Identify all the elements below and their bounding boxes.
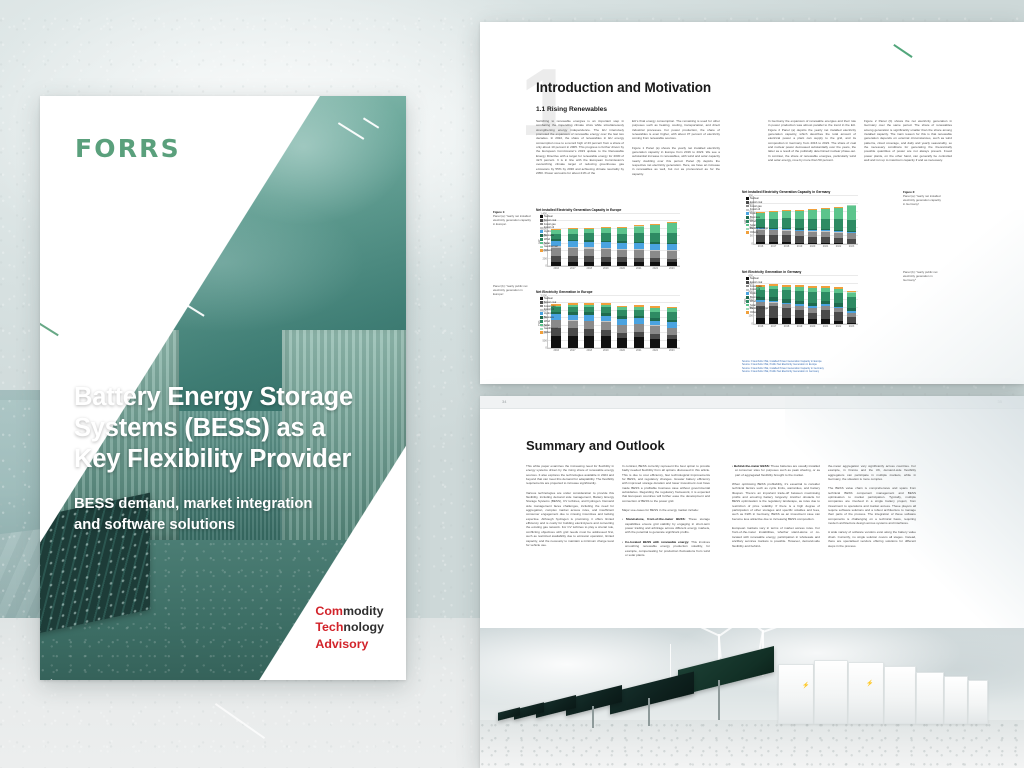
chart-legend-label: Nuclear [544,297,553,300]
chart-bar-segment [782,318,790,324]
chart-x-tick-label: 2022 [652,349,658,352]
chart-bar[interactable] [568,214,578,266]
chart-bar[interactable] [650,296,660,348]
chart-legend-swatch [746,289,749,292]
chart-bar-segment [551,262,561,266]
chart-bar-segment [601,322,611,330]
chart-bar-segment [617,338,627,348]
chart-bar-segment [756,235,764,243]
page1-col4-para-1: Figure 2 Panel (b) shows the net electri… [864,119,952,162]
chart-bar-segment [650,262,660,266]
battery-container [944,676,968,724]
chart-bar-segment [756,318,764,324]
chart-legend-item[interactable]: Hydro [540,230,558,233]
cover-subtitle: BESS demand, market integration and soft… [74,494,372,537]
chart-bar[interactable] [782,196,790,244]
figure-1-caption-b: Panel (b): Yearly public net electricity… [493,284,531,296]
chart-bar-segment [650,339,660,348]
report-page-summary[interactable]: 34 35 Summary and Outlook This white pap… [480,396,1024,768]
chart-bar-segment [650,312,660,319]
chart-title: Net Electricity Generation in Europe [536,290,714,294]
chart-legend-item[interactable]: Nuclear [746,197,768,200]
figure-2-caption-panel-b: Panel (b): Yearly public net electricity… [903,270,943,282]
chart-x-tick-label: 2017 [771,325,777,328]
chart-y-tick-label: 500 [542,339,546,342]
chart-bar-segment [808,243,816,244]
chart-x-tick-label: 2023 [849,245,855,248]
chart-bar-segment [551,336,561,348]
chart-bar-segment [847,297,855,308]
chart-bar-segment [808,319,816,324]
chart-legend: NuclearFossil coalFossil gasFossil oilHy… [746,277,768,314]
chart-bars: 20162017201820192020202120222023 [754,276,858,324]
chart-legend-item[interactable]: Fossil coal [746,281,768,284]
chart-bars: 20162017201820192020202120222023 [548,296,680,348]
chart-bar-segment [601,249,611,257]
chart-x-tick-label: 2022 [652,267,658,270]
cta-logo-line-3: Advisory [315,636,384,652]
chart-legend-item[interactable]: Nuclear [746,277,768,280]
chart-bar-segment [808,219,816,229]
chart-bar-segment [834,219,842,230]
chart-bar[interactable] [617,296,627,348]
chart-bar-segment [667,223,677,233]
cover-title-line-3: Key Flexibility Provider [74,444,384,475]
chart-legend-swatch [746,308,749,311]
chart-bar[interactable] [650,214,660,266]
chart-bar[interactable] [769,276,777,324]
chart-fig1a: Net Installed Electricity Generation Cap… [536,208,714,272]
chart-legend-item[interactable]: Biomass [540,316,558,319]
chart-bar[interactable] [601,214,611,266]
chart-bars: 20162017201820192020202120222023 [754,196,858,244]
battery-container [814,660,848,724]
chart-y-tick-label: 0 [751,243,752,246]
battery-container [848,662,884,724]
cover-subtitle-line-1: BESS demand, market integration [74,494,372,515]
chart-legend-swatch [746,209,749,212]
wind-turbine-mast [670,644,671,680]
chart-legend-label: Hydro [750,212,757,215]
chart-legend-item[interactable]: Wind [540,238,558,241]
page1-subheading: 1.1 Rising Renewables [536,106,607,113]
chart-bar[interactable] [795,196,803,244]
solar-panel-leg [648,698,650,726]
figure-2-caption-b: Panel (b): Yearly public net electricity… [903,270,943,282]
chart-bar-segment [847,317,855,324]
chart-legend-swatch [540,316,543,319]
page2-col3-para-1: When optimising BESS profitability, it's… [732,482,820,521]
battery-container [884,666,916,724]
chart-y-tick-label: 0 [545,347,546,350]
chart-legend: NuclearFossil coalFossil gasFossil oilHy… [746,197,768,234]
cta-logo-line-1: Commodity [315,603,384,619]
page2-column-3: • Behind-the-meter BESS: These batteries… [732,464,820,553]
chart-bar[interactable] [634,296,644,348]
chart-bar[interactable] [769,196,777,244]
chart-bar[interactable] [782,276,790,324]
chart-legend-label: Others [750,311,758,314]
page2-column-1: This white paper examines the increasing… [526,464,614,552]
cover-title: Battery Energy Storage Systems (BESS) as… [74,382,384,475]
chart-legend-swatch [540,219,543,222]
chart-legend-swatch [540,312,543,315]
chart-x-tick-label: 2020 [619,267,625,270]
chart-x-tick-label: 2021 [823,245,829,248]
chart-x-tick-label: 2019 [797,325,803,328]
chart-bar[interactable] [808,276,816,324]
chart-legend-item[interactable]: Biomass [746,296,768,299]
chart-title: Net Electricity Generation in Germany [742,270,892,274]
chart-bar[interactable] [584,214,594,266]
page2-photo-ground [480,720,1024,768]
page2-col1-para-2: Various technologies are under considera… [526,491,614,547]
cover-page[interactable]: FORRS Battery Energy Storage Systems (BE… [40,96,406,680]
cover-subtitle-line-2: and software solutions [74,515,372,536]
battery-container [916,672,944,724]
chart-bar[interactable] [667,296,677,348]
battery-bolt-icon: ⚡ [866,680,873,687]
chart-legend-swatch [540,324,543,327]
chart-bar-segment [617,234,627,242]
chart-legend-swatch [746,220,749,223]
chart-bar[interactable] [568,296,578,348]
chart-bar[interactable] [821,196,829,244]
chart-legend-item[interactable]: Nuclear [540,215,558,218]
chart-bar-segment [769,318,777,324]
cta-logo-line-2: Technology [315,619,384,635]
chart-bar[interactable] [634,214,644,266]
chart-legend-item[interactable]: Hydro [746,292,768,295]
chart-bar-segment [584,233,594,240]
chart-bar-segment [782,308,790,318]
page1-column-1: Switching to renewable energies is an im… [536,119,624,180]
page2-col4-para-1: the-meter aggregation vary significantly… [828,464,916,481]
chart-legend-swatch [540,227,543,230]
chart-legend-item[interactable]: Others [540,331,558,334]
chart-x-tick-label: 2022 [836,245,842,248]
chart-legend-swatch [540,331,543,334]
chart-bar-segment [601,233,611,240]
figure-1-caption-panel-b: Panel (b): Yearly public net electricity… [493,284,531,296]
chart-x-tick-label: 2020 [810,325,816,328]
page-number-left: 34 [502,399,506,404]
chart-bar-segment [821,310,829,319]
solar-panel-leg [592,706,594,728]
chart-bar-segment [617,250,627,258]
cover-title-line-2: Systems (BESS) as a [74,413,384,444]
page2-photo: ⚡ ⚡ [480,628,1024,768]
chart-bar-segment [650,225,660,233]
chart-legend-swatch [540,249,543,252]
page1-column-4: Figure 2 Panel (b) shows the net electri… [864,119,952,167]
chart-bar-segment [769,219,777,228]
chart-legend-swatch [540,297,543,300]
chart-plot-area: 0100200300400500600201620172018201920202… [753,276,858,325]
chart-bar-segment [782,290,790,299]
chart-bar-segment [601,336,611,348]
cta-logo-line-1-strong: Com [315,604,343,618]
chart-bar-segment [795,236,803,243]
chart-bar-segment [634,233,644,241]
chart-bar-segment [568,248,578,256]
chart-x-tick-label: 2018 [586,349,592,352]
cta-logo-line-1-rest: modity [343,604,384,618]
chart-fig2b: Net Electricity Generation in Germany010… [742,270,892,330]
chart-bar-segment [617,325,627,333]
page2-col4-para-3: A wide variety of software vendors exist… [828,530,916,547]
chart-bar-segment [667,339,677,348]
chart-bar-segment [808,292,816,303]
chart-legend-swatch [746,304,749,307]
chart-bar-segment [667,233,677,243]
chart-bar-segment [568,336,578,348]
page2-col2-para-1: In contrast, BESS currently represent th… [622,464,710,503]
chart-legend-swatch [746,201,749,204]
chart-legend-swatch [540,320,543,323]
chart-legend-item[interactable]: Hydro [540,312,558,315]
chart-bar[interactable] [584,296,594,348]
report-page-introduction[interactable]: 1 Introduction and Motivation 1.1 Rising… [480,22,1024,384]
chart-bar-segment [634,250,644,257]
chart-bar-segment [568,321,578,328]
chart-x-tick-label: 2020 [619,349,625,352]
chart-legend-item[interactable]: Others [746,311,768,314]
chart-legend-item[interactable]: Fossil coal [540,219,558,222]
chart-bar-segment [821,319,829,324]
chart-bar-segment [650,251,660,258]
chart-bar[interactable] [847,196,855,244]
chart-plot-area: 05001,0001,5002,0002,5003,0003,500201620… [547,296,680,349]
chart-y-tick-label: 50 [750,235,753,238]
chart-x-tick-label: 2017 [771,245,777,248]
chart-fig2a: Net Installed Electricity Generation Cap… [742,190,892,250]
chart-bar-segment [650,233,660,242]
chart-bar-segment [834,321,842,324]
source-line-4[interactable]: Source: Fraunhofer ISE, Public Net Elect… [742,370,892,373]
chart-bar-segment [769,306,777,318]
chart-x-tick-label: 2022 [836,325,842,328]
chart-legend-item[interactable]: Wind [540,320,558,323]
chart-bar-segment [568,262,578,266]
cta-logo-line-2-rest: nology [343,620,384,634]
chart-x-tick-label: 2020 [810,245,816,248]
chart-legend-label: Biomass [544,234,554,237]
battery-container [778,664,814,724]
chart-legend-swatch [540,246,543,249]
chart-legend-item[interactable]: Wind [746,220,768,223]
chart-y-tick-label: 0 [545,265,546,268]
chart-bar-segment [795,243,803,244]
chart-legend-label: Wind [750,220,756,223]
chart-legend-swatch [746,277,749,280]
chart-bar[interactable] [834,276,842,324]
chart-legend-swatch [540,309,543,312]
chart-x-tick-label: 2016 [553,267,559,270]
chart-x-tick-label: 2016 [758,245,764,248]
chart-x-tick-label: 2019 [603,349,609,352]
chart-x-tick-label: 2023 [669,267,675,270]
chart-x-tick-label: 2016 [553,349,559,352]
chart-legend-label: Biomass [750,296,760,299]
chart-bar-segment [584,336,594,348]
chart-bar-segment [634,262,644,266]
page2-column-4: the-meter aggregation vary significantly… [828,464,916,553]
chart-bar-segment [769,212,777,219]
chart-bar-segment [782,218,790,227]
chart-legend-label: Nuclear [750,277,759,280]
chart-legend-swatch [540,328,543,331]
chart-x-tick-label: 2018 [784,325,790,328]
page2-col4-para-2: The BESS value chain is comprehensive an… [828,486,916,525]
chart-legend-swatch [540,230,543,233]
chart-x-tick-label: 2023 [849,325,855,328]
chart-x-tick-label: 2018 [586,267,592,270]
chart-y-tick-label: 0 [751,323,752,326]
chart-bar-segment [847,220,855,231]
chart-legend-swatch [746,285,749,288]
chart-legend-label: Fossil coal [750,201,762,204]
page2-col3-bullet-1: • Behind-the-meter BESS: These batteries… [732,464,820,477]
chart-legend: NuclearFossil coalFossil gasFossil oilHy… [540,297,558,334]
chart-legend-label: Hydro [750,292,757,295]
chart-x-tick-label: 2021 [823,325,829,328]
chart-legend-label: Fossil coal [750,281,762,284]
battery-container [968,680,988,724]
chart-legend-label: Biomass [750,216,760,219]
chart-bar[interactable] [808,196,816,244]
chart-bar-segment [821,219,829,229]
chart-legend-label: Others [544,331,552,334]
chart-bar[interactable] [667,214,677,266]
chart-bar[interactable] [795,276,803,324]
chart-x-tick-label: 2017 [570,267,576,270]
chart-bar-segment [584,329,594,336]
chart-legend-swatch [746,281,749,284]
chart-bar-segment [601,262,611,266]
chart-bar-segment [821,292,829,301]
chart-legend-swatch [746,205,749,208]
cta-logo-line-2-strong: Tech [315,620,343,634]
chart-legend-swatch [746,212,749,215]
chart-bar[interactable] [834,196,842,244]
chart-legend-swatch [746,216,749,219]
chart-bar[interactable] [821,276,829,324]
chart-legend-swatch [746,197,749,200]
chart-title: Net Installed Electricity Generation Cap… [742,190,892,194]
chart-bar-segment [634,337,644,348]
chart-bar-segment [847,239,855,244]
chart-legend-item[interactable]: Biomass [746,216,768,219]
chart-legend-label: Fossil coal [544,301,556,304]
chart-legend-item[interactable]: Hydro [746,212,768,215]
chart-legend-label: Wind [750,300,756,303]
chart-legend-item[interactable]: Others [540,249,558,252]
chart-bar-segment [650,326,660,334]
chart-bar-segment [834,312,842,321]
chart-legend-swatch [540,223,543,226]
chart-legend-swatch [746,300,749,303]
chart-y-tick-label: 100 [748,315,752,318]
chart-bar-segment [795,219,803,229]
chart-legend-swatch [746,231,749,234]
chart-legend-item[interactable]: Others [746,231,768,234]
chart-legend-item[interactable]: Wind [746,300,768,303]
chart-legend-item[interactable]: Biomass [540,234,558,237]
commodity-technology-advisory-logo: Commodity Technology Advisory [315,603,384,652]
page1-col1-para-1: Switching to renewable energies is an im… [536,119,624,175]
chart-bar[interactable] [847,276,855,324]
chart-bar[interactable] [617,214,627,266]
chart-legend-item[interactable]: Fossil coal [746,201,768,204]
page2-col2-bullet-2: • Co-located BESS with renewable energy:… [622,540,710,557]
chart-bar-segment [769,235,777,242]
chart-bar-segment [584,262,594,266]
chart-bar-segment [795,310,803,318]
chart-bar-segment [795,291,803,301]
page2-col1-para-1: This white paper examines the increasing… [526,464,614,486]
chart-bar-segment [847,206,855,219]
chart-legend-label: Others [750,231,758,234]
chart-legend-label: Biomass [544,316,554,319]
chart-bar-segment [834,293,842,303]
chart-bar-segment [617,262,627,266]
chart-bar-segment [769,242,777,244]
figure-2-caption-panel-a: Panel (a): Yearly net installed electric… [903,194,943,206]
chart-bar-segment [584,321,594,328]
page1-column-3: In Germany the expansion of renewable en… [768,119,856,167]
chart-bar-segment [667,328,677,335]
chart-bar-segment [821,243,829,244]
chart-bar[interactable] [601,296,611,348]
page1-col2-para-1: EU's final energy consumption. The remai… [632,119,720,141]
chart-title: Net Installed Electricity Generation Cap… [536,208,714,212]
page2-heading: Summary and Outlook [526,438,665,453]
figure-2-caption: Figure 2: Panel (a): Yearly net installe… [903,190,943,206]
chart-bar-segment [634,227,644,234]
chart-legend-label: Fossil coal [544,219,556,222]
chart-legend-swatch [540,215,543,218]
chart-plot-area: 0501001502002503002016201720182019202020… [753,196,858,245]
chart-x-tick-label: 2023 [669,349,675,352]
chart-bar-segment [782,235,790,242]
chart-legend-swatch [540,234,543,237]
page1-col3-para-1: In Germany the expansion of renewable en… [768,119,856,162]
chart-x-tick-label: 2016 [758,325,764,328]
chart-legend-label: Hydro [544,312,551,315]
chart-x-tick-label: 2019 [603,267,609,270]
page1-sources: Source: Fraunhofer ISE, Installed Power … [742,360,892,374]
chart-legend-swatch [540,305,543,308]
chart-bar-segment [584,249,594,257]
chart-fig1b: Net Electricity Generation in Europe0500… [536,290,714,354]
cta-logo-line-3-strong: Advisory [315,637,368,651]
chart-bar-segment [568,328,578,336]
chart-legend-item[interactable]: Nuclear [540,297,558,300]
cover-title-line-1: Battery Energy Storage [74,382,384,413]
chart-legend-label: Wind [544,238,550,241]
chart-bar-segment [834,243,842,244]
chart-legend-swatch [746,228,749,231]
chart-legend-swatch [540,301,543,304]
chart-legend-item[interactable]: Fossil coal [540,301,558,304]
figure-1-caption: Figure 1: Panel (a): Yearly net installe… [493,210,531,226]
chart-bar-segment [834,208,842,219]
chart-bar-segment [617,310,627,317]
chart-bar-segment [821,209,829,218]
page2-col3-para-2: European markets vary in terms of market… [732,526,820,548]
chart-bar-segment [795,211,803,219]
